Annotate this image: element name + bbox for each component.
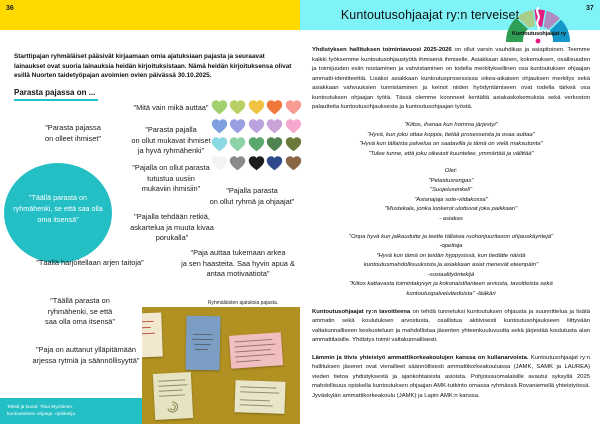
- right-column: Yhdistyksen hallituksen toimintavuosi 20…: [312, 46, 590, 410]
- heart-icon: [266, 118, 283, 134]
- participant-quote: "Täällä harjoitellaan arjen taitoja": [14, 258, 166, 269]
- heart-icon: [248, 118, 265, 134]
- photo-edge-strip: [142, 398, 152, 424]
- intro-paragraph: Starttipajan ryhmäläiset pääsivät kirjaa…: [14, 52, 292, 81]
- heart-icon: [211, 155, 228, 171]
- heart-color-grid: [211, 99, 303, 173]
- photo-caption: Ryhmäläisten ajatuksia pajasta.: [186, 300, 300, 306]
- heart-icon: [248, 99, 265, 115]
- heart-icon: [285, 99, 302, 115]
- note-paper: [142, 313, 163, 358]
- heart-icon: [248, 136, 265, 152]
- subheading-rule: [14, 99, 98, 101]
- paragraph-3-rest: Kuntoutusohjaajat ry:n hallituksen jäsen…: [312, 355, 590, 399]
- page-number-left: 36: [6, 5, 14, 12]
- heart-icon: [266, 99, 283, 115]
- paragraph-2: Kuntoutusohjaajat ry:n tavoitteena on te…: [312, 308, 590, 346]
- heart-icon: [248, 155, 265, 171]
- heart-icon: [285, 155, 302, 171]
- paragraph-2-lead: Kuntoutusohjaajat ry:n tavoitteena: [312, 309, 410, 315]
- logo-fan-icon: [500, 2, 576, 44]
- page-number-right: 37: [586, 5, 594, 12]
- sticky-notes-photo: [142, 307, 300, 424]
- client-quotes-2: Olet: "Pelastusrengas" "Suojelusenkeli" …: [312, 167, 590, 224]
- section-subheading: Parasta pajassa on ...: [14, 88, 95, 97]
- client-quotes-3: "Onpa hyvä kun jalkaudutte ja teette täl…: [312, 233, 590, 300]
- paragraph-3-lead: Lämmin ja tiivis yhteistyö ammattikorkea…: [312, 355, 529, 361]
- heart-icon: [266, 136, 283, 152]
- heart-icon: [285, 136, 302, 152]
- credit-text: Teksti ja kuvat: Tiina Mynttinen, kuntou…: [7, 404, 137, 419]
- heart-icon: [229, 155, 246, 171]
- logo-caption: Kuntoutusohjaajat ry: [498, 31, 580, 37]
- note-paper: [234, 380, 285, 414]
- participant-quote: "Paja auttaa tukemaan arkea ja sen haast…: [172, 248, 304, 280]
- heart-icon: [229, 136, 246, 152]
- paragraph-3: Lämmin ja tiivis yhteistyö ammattikorkea…: [312, 354, 590, 402]
- heart-icon: [266, 155, 283, 171]
- note-paper: [186, 316, 221, 371]
- participant-quote: "Pajalla parasta on ollut ryhmä ja ohjaa…: [200, 186, 304, 207]
- association-logo: [500, 2, 576, 44]
- highlight-circle-quote: "Täällä parasta on ryhmähenki, se että s…: [10, 193, 106, 225]
- heart-icon: [211, 118, 228, 134]
- note-paper: [153, 372, 193, 420]
- heart-icon: [285, 118, 302, 134]
- paragraph-1-rest: on ollut varsin vauhdikas ja asiapitoine…: [312, 47, 590, 110]
- heart-icon: [229, 99, 246, 115]
- participant-quote: "Paja on auttanut ylläpitämään arjessa r…: [12, 345, 160, 366]
- client-quotes-1: "Kiitos, ihanaa kun homma järjestyi" "Hy…: [312, 121, 590, 159]
- heart-icon: [229, 118, 246, 134]
- magazine-spread: 36 37 Kuntoutusohjaajat ry:n terveiset K…: [0, 0, 600, 424]
- paragraph-1-lead: Yhdistyksen hallituksen toimintavuosi 20…: [312, 47, 452, 53]
- heart-icon: [211, 136, 228, 152]
- header-bar-left: [0, 0, 300, 30]
- participant-quote: "Täällä parasta on ryhmähenki, se että s…: [26, 296, 134, 328]
- participant-quote: "Pajalla tehdään retkiä, askartelua ja m…: [110, 212, 234, 244]
- paragraph-1: Yhdistyksen hallituksen toimintavuosi 20…: [312, 46, 590, 113]
- heart-icon: [211, 99, 228, 115]
- note-paper: [229, 332, 283, 369]
